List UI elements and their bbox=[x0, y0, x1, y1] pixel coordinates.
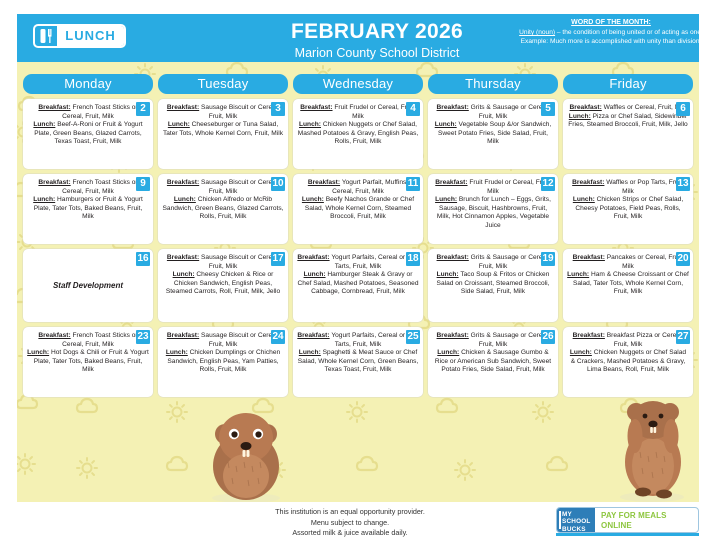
date-badge: 11 bbox=[406, 177, 420, 191]
week-row: 9Breakfast: French Toast Sticks or Cerea… bbox=[23, 174, 693, 244]
breakfast-label: Breakfast: bbox=[167, 179, 199, 186]
breakfast-label: Breakfast: bbox=[573, 254, 605, 261]
calendar-day-cell: 20Breakfast: Pancakes or Cereal, Fruit, … bbox=[563, 249, 693, 322]
date-badge: 2 bbox=[136, 102, 150, 116]
lunch-logo: LUNCH bbox=[33, 24, 126, 48]
myschoolbucks-cta[interactable]: PAY FOR MEALS ONLINE MySchoolBucks.com bbox=[595, 508, 698, 532]
breakfast-text: Sausage Biscuit or Cereal, Fruit, Milk bbox=[201, 254, 279, 270]
groundhog-illustration-left bbox=[198, 404, 294, 502]
breakfast-entry: Breakfast: Yogurt Parfaits, Cereal or Po… bbox=[297, 332, 419, 349]
calendar-grid: Monday Tuesday Wednesday Thursday Friday… bbox=[17, 68, 699, 397]
page-header: LUNCH FEBRUARY 2026 Marion County School… bbox=[17, 14, 699, 62]
breakfast-text: Yogurt Parfait, Muffins, Cereal, Fruit, … bbox=[332, 179, 408, 195]
calendar-day-cell: 17Breakfast: Sausage Biscuit or Cereal, … bbox=[158, 249, 288, 322]
breakfast-entry: Breakfast: Sausage Biscuit or Cereal, Fr… bbox=[162, 332, 284, 349]
date-badge: 4 bbox=[406, 102, 420, 116]
week-row: 16Staff Development17Breakfast: Sausage … bbox=[23, 249, 693, 322]
breakfast-text: Fruit Frudel or Cereal, Fruit, Milk bbox=[334, 104, 415, 120]
district-name: Marion County School District bbox=[257, 45, 497, 61]
breakfast-entry: Breakfast: Pancakes or Cereal, Fruit, Mi… bbox=[567, 254, 689, 271]
groundhog-illustration-right bbox=[612, 400, 698, 502]
lunch-entry: Lunch: Brunch for Lunch – Eggs, Grits, S… bbox=[432, 196, 554, 230]
breakfast-entry: Breakfast: Waffles or Cereal, Fruit, Mil… bbox=[567, 104, 689, 113]
lunch-entry: Lunch: Beef-A-Roni or Fruit & Yogurt Pla… bbox=[27, 121, 149, 147]
breakfast-label: Breakfast: bbox=[38, 104, 70, 111]
lunch-label: Lunch: bbox=[27, 349, 49, 356]
footer-accent-bar bbox=[556, 533, 699, 536]
calendar-day-cell: 16Staff Development bbox=[23, 249, 153, 322]
calendar-day-cell: 6Breakfast: Waffles or Cereal, Fruit, Mi… bbox=[563, 99, 693, 169]
breakfast-label: Breakfast: bbox=[167, 104, 199, 111]
breakfast-label: Breakfast: bbox=[167, 254, 199, 261]
date-badge: 27 bbox=[676, 330, 690, 344]
lunch-label: Lunch: bbox=[567, 271, 589, 278]
lunch-entry: Lunch: Taco Soup & Fritos or Chicken Sal… bbox=[432, 271, 554, 297]
breakfast-entry: Breakfast: Yogurt Parfait, Muffins, Cere… bbox=[297, 179, 419, 196]
breakfast-entry: Breakfast: Grits & Sausage or Cereal, Fr… bbox=[432, 254, 554, 271]
breakfast-label: Breakfast: bbox=[297, 332, 329, 339]
date-badge: 5 bbox=[541, 102, 555, 116]
calendar-day-cell: 27Breakfast: Breakfast Pizza or Cereal, … bbox=[563, 327, 693, 397]
lunch-label: Lunch: bbox=[570, 349, 592, 356]
myschoolbucks-badge[interactable]: MY SCHOOL BUCKS PAY FOR MEALS ONLINE MyS… bbox=[556, 507, 699, 533]
lunch-entry: Lunch: Vegetable Soup &/or Sandwich, Swe… bbox=[432, 121, 554, 147]
date-badge: 26 bbox=[541, 330, 555, 344]
calendar-day-cell: 23Breakfast: French Toast Sticks or Cere… bbox=[23, 327, 153, 397]
lunch-entry: Lunch: Spaghetti & Meat Sauce or Chef Sa… bbox=[297, 349, 419, 375]
lunch-label: Lunch: bbox=[304, 271, 326, 278]
date-badge: 16 bbox=[136, 252, 150, 266]
weeks-container: 2Breakfast: French Toast Sticks or Cerea… bbox=[23, 99, 693, 397]
breakfast-entry: Breakfast: French Toast Sticks or Cereal… bbox=[27, 179, 149, 196]
staff-development-note: Staff Development bbox=[27, 254, 149, 318]
lunch-label: Lunch: bbox=[166, 349, 188, 356]
breakfast-entry: Breakfast: Sausage Biscuit or Cereal, Fr… bbox=[162, 104, 284, 121]
breakfast-entry: Breakfast: Fruit Frudel or Cereal, Fruit… bbox=[297, 104, 419, 121]
title-block: FEBRUARY 2026 Marion County School Distr… bbox=[257, 20, 497, 61]
breakfast-entry: Breakfast: French Toast Sticks or Cereal… bbox=[27, 104, 149, 121]
week-row: 2Breakfast: French Toast Sticks or Cerea… bbox=[23, 99, 693, 169]
date-badge: 24 bbox=[271, 330, 285, 344]
lunch-label: Lunch: bbox=[33, 196, 55, 203]
lunch-text: Hot Dogs & Chili or Fruit & Yogurt Plate… bbox=[34, 349, 149, 373]
date-badge: 9 bbox=[136, 177, 150, 191]
breakfast-label: Breakfast: bbox=[437, 332, 469, 339]
calendar-day-cell: 24Breakfast: Sausage Biscuit or Cereal, … bbox=[158, 327, 288, 397]
date-badge: 20 bbox=[676, 252, 690, 266]
breakfast-text: Waffles or Pop Tarts, Fruit, Milk bbox=[606, 179, 684, 195]
breakfast-label: Breakfast: bbox=[300, 104, 332, 111]
lunch-entry: Lunch: Hot Dogs & Chili or Fruit & Yogur… bbox=[27, 349, 149, 375]
word-of-the-month-heading: WORD OF THE MONTH: bbox=[511, 18, 711, 27]
breakfast-text: Grits & Sausage or Cereal, Fruit, Milk bbox=[471, 254, 550, 270]
breakfast-text: French Toast Sticks or Cereal, Fruit, Mi… bbox=[62, 332, 137, 348]
myschoolbucks-logo: MY SCHOOL BUCKS bbox=[557, 508, 595, 532]
lunch-entry: Lunch: Cheesy Chicken & Rice or Chicken … bbox=[162, 271, 284, 297]
calendar-day-cell: 9Breakfast: French Toast Sticks or Cerea… bbox=[23, 174, 153, 244]
page-title: FEBRUARY 2026 bbox=[257, 20, 497, 44]
footer-line-1: This institution is an equal opportunity… bbox=[190, 507, 510, 518]
breakfast-entry: Breakfast: Fruit Frudel or Cereal, Fruit… bbox=[432, 179, 554, 196]
calendar-day-cell: 25Breakfast: Yogurt Parfaits, Cereal or … bbox=[293, 327, 423, 397]
breakfast-label: Breakfast: bbox=[570, 104, 602, 111]
calendar-day-cell: 11Breakfast: Yogurt Parfait, Muffins, Ce… bbox=[293, 174, 423, 244]
word-of-the-month-word: Unity (noun) bbox=[519, 29, 555, 36]
word-of-the-month: WORD OF THE MONTH: Unity (noun) – the co… bbox=[511, 18, 711, 47]
calendar-day-cell: 10Breakfast: Sausage Biscuit or Cereal, … bbox=[158, 174, 288, 244]
calendar-day-cell: 12Breakfast: Fruit Frudel or Cereal, Fru… bbox=[428, 174, 558, 244]
lunch-entry: Lunch: Chicken Strips or Chef Salad, Che… bbox=[567, 196, 689, 222]
lunch-label: Lunch: bbox=[168, 121, 190, 128]
breakfast-entry: Breakfast: Grits & Sausage or Cereal, Fr… bbox=[432, 104, 554, 121]
breakfast-entry: Breakfast: Grits & Sausage or Cereal, Fr… bbox=[432, 332, 554, 349]
lunch-menu-page: LUNCH FEBRUARY 2026 Marion County School… bbox=[0, 0, 716, 556]
myschoolbucks-logo-line1: MY bbox=[562, 511, 593, 518]
breakfast-label: Breakfast: bbox=[38, 332, 70, 339]
day-header-tuesday: Tuesday bbox=[158, 74, 288, 94]
lunch-logo-text: LUNCH bbox=[57, 26, 124, 46]
breakfast-entry: Breakfast: Sausage Biscuit or Cereal, Fr… bbox=[162, 254, 284, 271]
date-badge: 6 bbox=[676, 102, 690, 116]
breakfast-entry: Breakfast: Waffles or Pop Tarts, Fruit, … bbox=[567, 179, 689, 196]
utensils-icon bbox=[35, 26, 57, 46]
lunch-label: Lunch: bbox=[437, 349, 459, 356]
lunch-label: Lunch: bbox=[437, 271, 459, 278]
breakfast-text: Sausage Biscuit or Cereal, Fruit, Milk bbox=[201, 104, 279, 120]
breakfast-entry: Breakfast: Yogurt Parfaits, Cereal or Po… bbox=[297, 254, 419, 271]
week-row: 23Breakfast: French Toast Sticks or Cere… bbox=[23, 327, 693, 397]
lunch-label: Lunch: bbox=[573, 196, 595, 203]
calendar-day-cell: 18Breakfast: Yogurt Parfaits, Cereal or … bbox=[293, 249, 423, 322]
breakfast-text: Grits & Sausage or Cereal, Fruit, Milk bbox=[471, 332, 550, 348]
lunch-entry: Lunch: Hamburgers or Fruit & Yogurt Plat… bbox=[27, 196, 149, 222]
breakfast-text: Sausage Biscuit or Cereal, Fruit, Milk bbox=[201, 332, 279, 348]
word-of-the-month-example: Example: Much more is accomplished with … bbox=[511, 37, 711, 46]
breakfast-entry: Breakfast: Breakfast Pizza or Cereal, Fr… bbox=[567, 332, 689, 349]
footer-disclaimer: This institution is an equal opportunity… bbox=[190, 507, 510, 539]
day-header-friday: Friday bbox=[563, 74, 693, 94]
breakfast-entry: Breakfast: French Toast Sticks or Cereal… bbox=[27, 332, 149, 349]
breakfast-label: Breakfast: bbox=[297, 254, 329, 261]
breakfast-text: Fruit Frudel or Cereal, Fruit, Milk bbox=[469, 179, 550, 195]
lunch-entry: Lunch: Chicken Alfredo or McRib Sandwich… bbox=[162, 196, 284, 222]
myschoolbucks-logo-line3: BUCKS bbox=[562, 526, 593, 533]
date-badge: 10 bbox=[271, 177, 285, 191]
lunch-entry: Lunch: Chicken Dumplings or Chichen Sand… bbox=[162, 349, 284, 375]
breakfast-label: Breakfast: bbox=[38, 179, 70, 186]
word-of-the-month-meaning: – the condition of being united or of ac… bbox=[557, 29, 703, 36]
breakfast-text: Waffles or Cereal, Fruit, Milk bbox=[604, 104, 687, 111]
date-badge: 12 bbox=[541, 177, 555, 191]
lunch-entry: Lunch: Ham & Cheese Croissant or Chef Sa… bbox=[567, 271, 689, 297]
day-header-wednesday: Wednesday bbox=[293, 74, 423, 94]
day-header-monday: Monday bbox=[23, 74, 153, 94]
lunch-text: Ham & Cheese Croissant or Chef Salad, Ta… bbox=[573, 271, 689, 295]
date-badge: 25 bbox=[406, 330, 420, 344]
date-badge: 17 bbox=[271, 252, 285, 266]
calendar-day-cell: 3Breakfast: Sausage Biscuit or Cereal, F… bbox=[158, 99, 288, 169]
date-badge: 19 bbox=[541, 252, 555, 266]
myschoolbucks-logo-line2: SCHOOL bbox=[562, 518, 593, 525]
calendar-day-cell: 4Breakfast: Fruit Frudel or Cereal, Frui… bbox=[293, 99, 423, 169]
calendar-day-cell: 19Breakfast: Grits & Sausage or Cereal, … bbox=[428, 249, 558, 322]
lunch-label: Lunch: bbox=[174, 196, 196, 203]
lunch-label: Lunch: bbox=[435, 121, 457, 128]
calendar-day-cell: 2Breakfast: French Toast Sticks or Cerea… bbox=[23, 99, 153, 169]
lunch-label: Lunch: bbox=[299, 349, 321, 356]
lunch-entry: Lunch: Chicken Nuggets or Chef Salad & C… bbox=[567, 349, 689, 375]
pay-online-label: PAY FOR MEALS ONLINE bbox=[601, 511, 695, 531]
date-badge: 23 bbox=[136, 330, 150, 344]
lunch-entry: Lunch: Chicken Nuggets or Chef Salad, Ma… bbox=[297, 121, 419, 147]
lunch-entry: Lunch: Pizza or Chef Salad, Sidewinder F… bbox=[567, 113, 689, 130]
breakfast-text: French Toast Sticks or Cereal, Fruit, Mi… bbox=[62, 179, 137, 195]
footer-line-3: Assorted milk & juice available daily. bbox=[190, 528, 510, 539]
calendar-day-cell: 26Breakfast: Grits & Sausage or Cereal, … bbox=[428, 327, 558, 397]
day-header-row: Monday Tuesday Wednesday Thursday Friday bbox=[23, 74, 693, 94]
breakfast-label: Breakfast: bbox=[572, 179, 604, 186]
date-badge: 13 bbox=[676, 177, 690, 191]
breakfast-text: Pancakes or Cereal, Fruit, Milk bbox=[607, 254, 684, 270]
date-badge: 3 bbox=[271, 102, 285, 116]
lunch-label: Lunch: bbox=[569, 113, 591, 120]
lunch-entry: Lunch: Hamburger Steak & Gravy or Chef S… bbox=[297, 271, 419, 297]
lunch-label: Lunch: bbox=[299, 121, 321, 128]
footer-line-2: Menu subject to change. bbox=[190, 518, 510, 529]
calendar-day-cell: 13Breakfast: Waffles or Pop Tarts, Fruit… bbox=[563, 174, 693, 244]
breakfast-entry: Breakfast: Sausage Biscuit or Cereal, Fr… bbox=[162, 179, 284, 196]
breakfast-text: Breakfast Pizza or Cereal, Fruit, Milk bbox=[607, 332, 684, 348]
lunch-label: Lunch: bbox=[302, 196, 324, 203]
breakfast-label: Breakfast: bbox=[435, 179, 467, 186]
lunch-label: Lunch: bbox=[435, 196, 457, 203]
lunch-entry: Lunch: Beefy Nachos Grande or Chef Salad… bbox=[297, 196, 419, 222]
lunch-entry: Lunch: Chicken & Sausage Gumbo & Rice or… bbox=[432, 349, 554, 375]
breakfast-text: French Toast Sticks or Cereal, Fruit, Mi… bbox=[62, 104, 137, 120]
lunch-label: Lunch: bbox=[33, 121, 55, 128]
breakfast-label: Breakfast: bbox=[167, 332, 199, 339]
breakfast-label: Breakfast: bbox=[437, 254, 469, 261]
breakfast-text: Sausage Biscuit or Cereal, Fruit, Milk bbox=[201, 179, 279, 195]
breakfast-text: Grits & Sausage or Cereal, Fruit, Milk bbox=[471, 104, 550, 120]
calendar-day-cell: 5Breakfast: Grits & Sausage or Cereal, F… bbox=[428, 99, 558, 169]
day-header-thursday: Thursday bbox=[428, 74, 558, 94]
word-of-the-month-definition: Unity (noun) – the condition of being un… bbox=[511, 28, 711, 37]
date-badge: 18 bbox=[406, 252, 420, 266]
breakfast-label: Breakfast: bbox=[437, 104, 469, 111]
breakfast-label: Breakfast: bbox=[308, 179, 340, 186]
lunch-label: Lunch: bbox=[173, 271, 195, 278]
lunch-entry: Lunch: Cheeseburger or Tuna Salad, Tater… bbox=[162, 121, 284, 138]
breakfast-label: Breakfast: bbox=[573, 332, 605, 339]
